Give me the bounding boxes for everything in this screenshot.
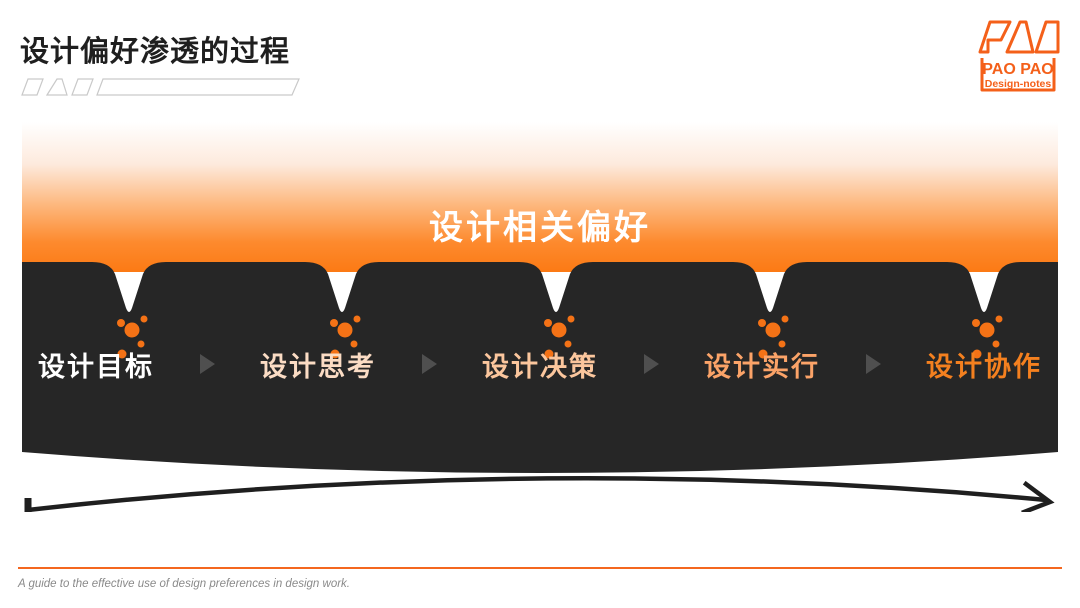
stage-label-3[interactable]: 设计决策: [482, 345, 598, 384]
stage-label-5[interactable]: 设计协作: [926, 345, 1042, 384]
stage-label-4[interactable]: 设计实行: [704, 345, 820, 384]
logo-shape-middle: [1007, 22, 1033, 52]
panel-graphic: [22, 122, 1058, 512]
process-panel: 设计相关偏好: [22, 122, 1058, 512]
logo-shape-right: [1036, 22, 1058, 52]
play-triangle-icon: [422, 354, 437, 374]
gradient-field: [22, 122, 1058, 272]
footer-divider: [18, 567, 1062, 569]
slide-header: 设计偏好渗透的过程 PAO PAO Design-notes: [0, 0, 1080, 110]
logo-shape-left: [980, 22, 1010, 52]
play-triangle-icon: [644, 354, 659, 374]
logo-text-primary: PAO PAO: [982, 61, 1053, 78]
play-triangle-icon: [866, 354, 881, 374]
brand-logo: PAO PAO Design-notes: [974, 14, 1062, 96]
page-title: 设计偏好渗透的过程: [20, 28, 290, 70]
stage-sequence: 设计目标 设计思考 设计决策 设计实行 设计协作: [22, 340, 1058, 388]
stage-label-2[interactable]: 设计思考: [260, 345, 376, 384]
stage-label-1[interactable]: 设计目标: [38, 345, 154, 384]
timeline-arrow: [28, 478, 1050, 512]
footer-note: A guide to the effective use of design p…: [18, 578, 350, 590]
title-deco-icon: [16, 74, 306, 103]
play-triangle-icon: [200, 354, 215, 374]
logo-text-secondary: Design-notes: [985, 78, 1052, 90]
